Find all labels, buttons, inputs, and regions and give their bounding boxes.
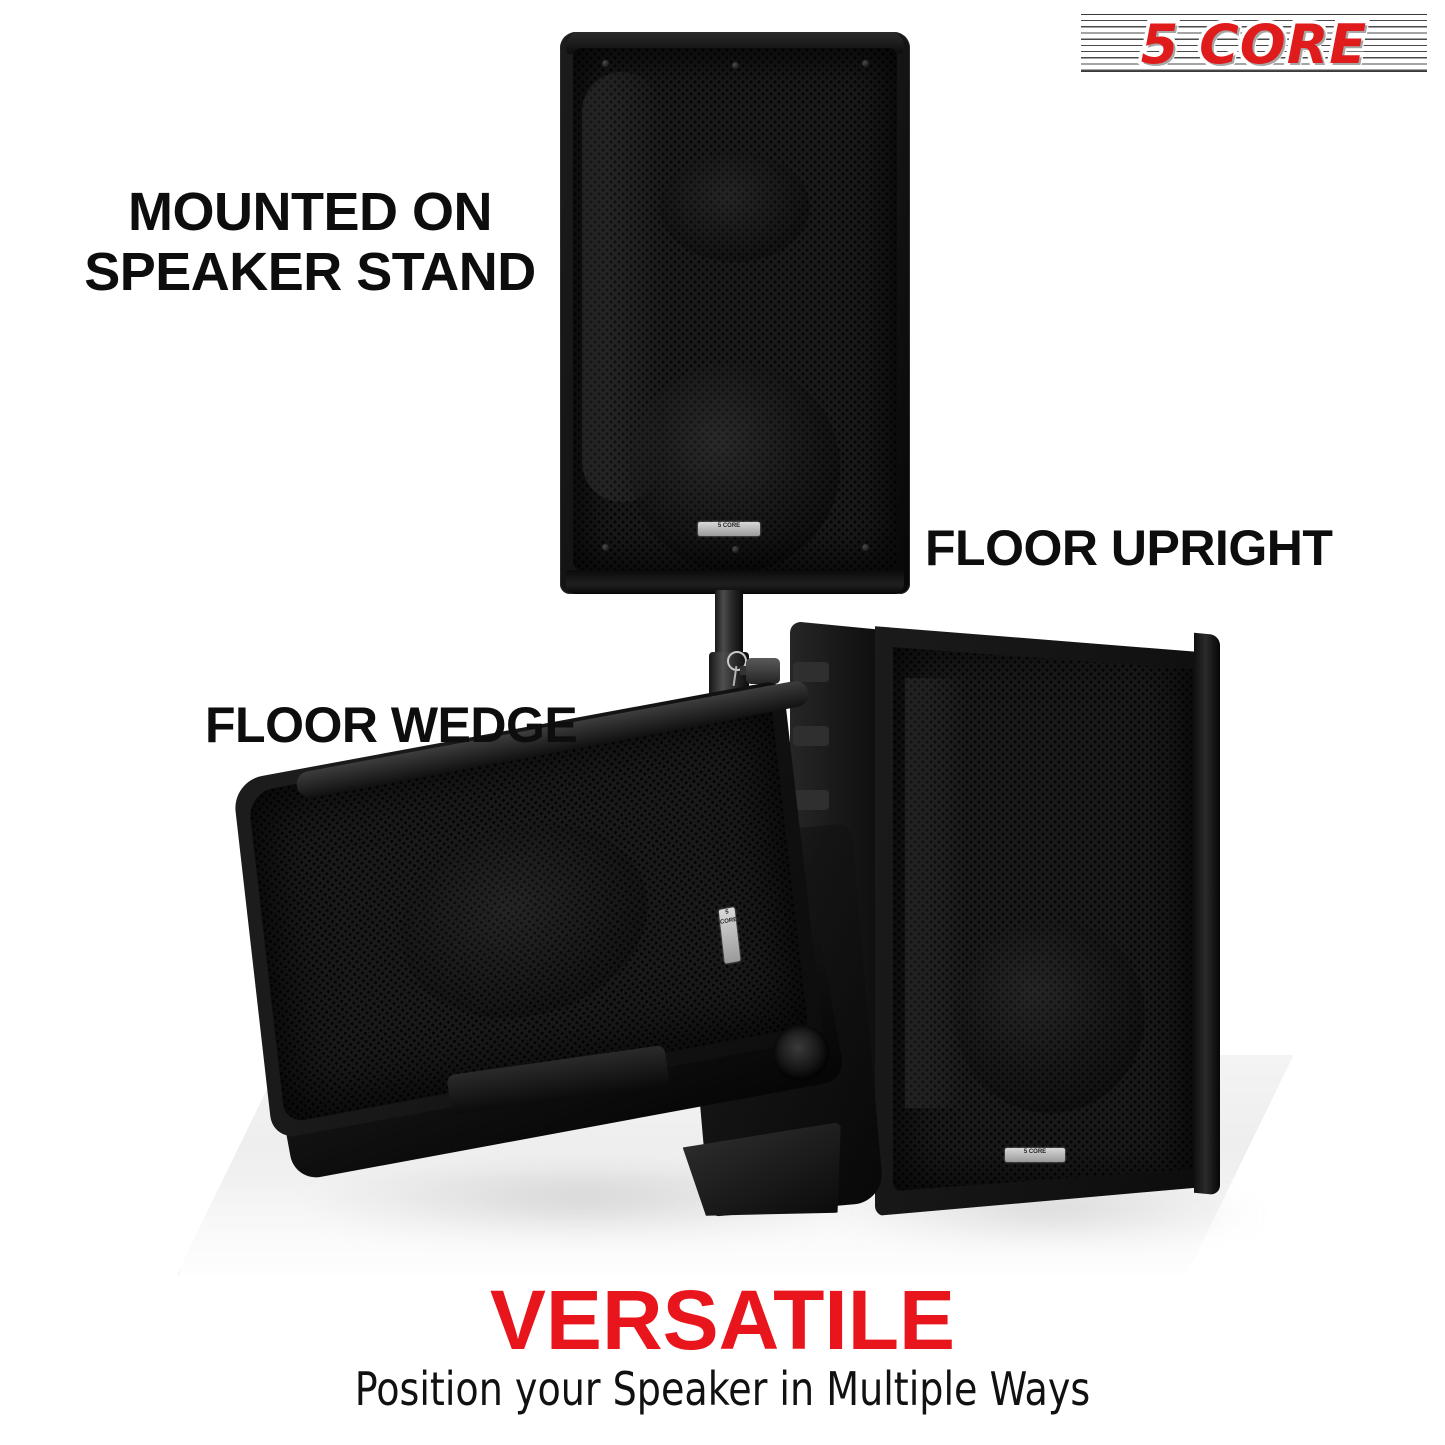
grille-screw-icon: [602, 60, 609, 67]
grille-screw-icon: [732, 62, 739, 69]
pole-socket: [773, 1025, 829, 1081]
side-rib: [793, 726, 829, 746]
logo-text: 5 CORE: [1079, 8, 1429, 80]
speaker-floor-wedge: [268, 770, 868, 1230]
cabinet-right-edge: [1194, 633, 1220, 1196]
grille-screw-icon: [732, 546, 739, 553]
brand-logo: 5 CORE: [1079, 8, 1429, 80]
callout-floor-upright: FLOOR UPRIGHT: [925, 520, 1425, 576]
grille-screw-icon: [862, 544, 869, 551]
cabinet-highlight: [582, 72, 662, 502]
grille-screw-icon: [602, 544, 609, 551]
product-marketing-image: 5 CORE: [0, 0, 1445, 1445]
callout-mounted-on-speaker-stand: MOUNTED ON SPEAKER STAND: [55, 182, 565, 303]
footer-subheadline: Position your Speaker in Multiple Ways: [58, 1362, 1387, 1416]
grille-screw-icon: [862, 60, 869, 67]
speaker-on-stand: [560, 32, 910, 594]
brand-badge: [1005, 1148, 1065, 1162]
cabinet-highlight: [905, 678, 965, 1108]
brand-badge: [698, 522, 760, 536]
callout-floor-wedge: FLOOR WEDGE: [205, 697, 655, 753]
tweeter-horn: [660, 152, 810, 262]
tightening-knob: [746, 658, 780, 684]
footer-headline: VERSATILE: [0, 1272, 1445, 1369]
side-rib: [793, 662, 829, 682]
woofer-cone: [955, 918, 1145, 1113]
